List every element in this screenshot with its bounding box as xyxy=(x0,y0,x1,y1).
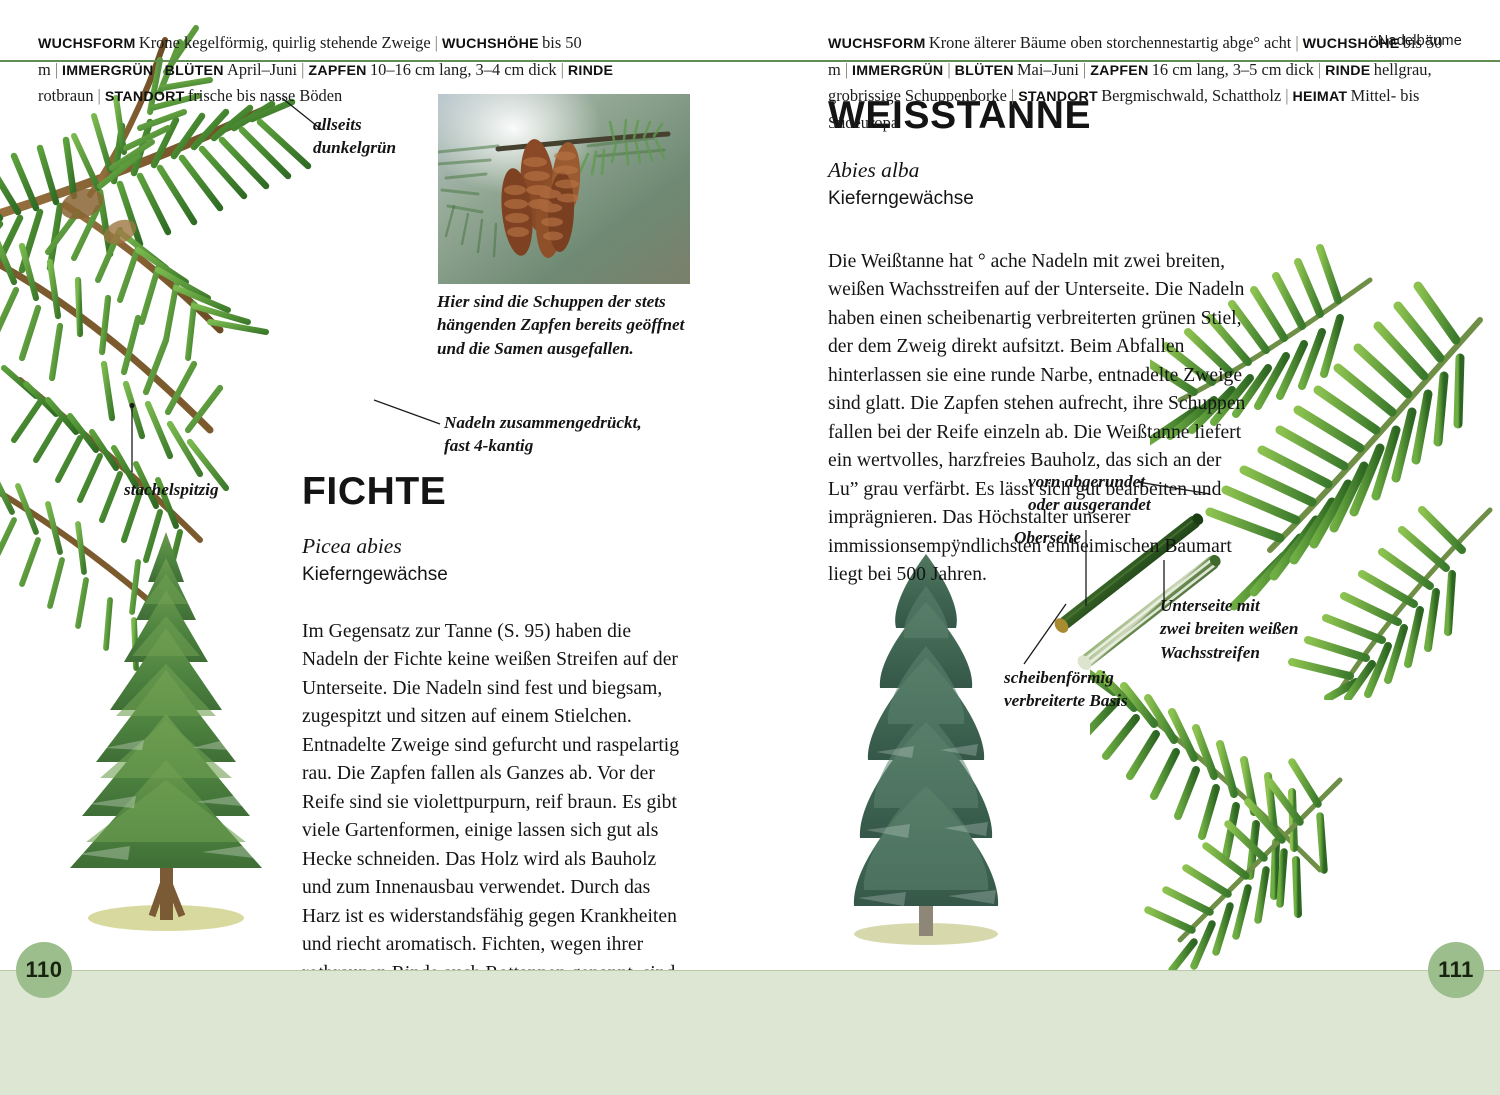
book-spread-page: Nadelbäume allseits dunkelgrün Hier sind… xyxy=(0,0,1500,1095)
fact-separator: | xyxy=(557,60,568,79)
fact-key: HEIMAT xyxy=(1293,89,1348,105)
fact-separator: | xyxy=(1281,86,1292,105)
fact-separator: | xyxy=(943,60,954,79)
leader-unterseite xyxy=(1158,558,1170,602)
fact-value: Krone älterer Bäume oben storchennestart… xyxy=(926,33,1292,52)
fact-value: April–Juni xyxy=(224,60,297,79)
fact-strip-right: WUCHSFORM Krone älterer Bäume oben storc… xyxy=(828,30,1478,136)
leader-stachelspitzig xyxy=(126,402,138,474)
fact-key: ZAPFEN xyxy=(1090,63,1148,79)
callout-scheibenfoermig-basis: scheibenförmig verbreiterte Basis xyxy=(1004,666,1194,713)
spruce-cone-photograph xyxy=(438,94,690,284)
page-number-badge-right: 111 xyxy=(1428,942,1484,998)
fact-key: WUCHSHÖHE xyxy=(1303,36,1400,52)
spruce-tree-illustration xyxy=(44,524,288,944)
species-latin-weisstanne: Abies alba xyxy=(828,157,1256,185)
fact-separator: | xyxy=(431,33,442,52)
fact-value: 10–16 cm lang, 3–4 cm dick xyxy=(367,60,557,79)
fact-separator: | xyxy=(297,60,308,79)
species-title-fichte: FICHTE xyxy=(302,472,680,511)
leader-nadeln xyxy=(372,398,442,428)
footer-rule xyxy=(0,970,1500,971)
fact-strip-band xyxy=(0,970,1500,1095)
callout-allseits-dunkelgruen: allseits dunkelgrün xyxy=(313,113,463,160)
fact-separator: | xyxy=(1007,86,1018,105)
fir-tree-illustration xyxy=(806,546,1050,956)
fact-key: STANDORT xyxy=(105,89,185,105)
fact-key: RINDE xyxy=(568,63,613,79)
species-family-fichte: Kieferngewächse xyxy=(302,562,680,588)
fact-key: BLÜTEN xyxy=(955,63,1014,79)
fact-separator: | xyxy=(841,60,852,79)
page-number-badge-left: 110 xyxy=(16,942,72,998)
leader-scheibenfoermig xyxy=(1022,602,1068,666)
fact-key: WUCHSFORM xyxy=(828,36,926,52)
leader-vorn-abgerundet xyxy=(1136,474,1212,498)
fact-key: WUCHSFORM xyxy=(38,36,136,52)
leader-oberseite xyxy=(1080,528,1092,608)
species-body-fichte: Im Gegensatz zur Tanne (S. 95) haben die… xyxy=(302,618,680,1017)
fact-value: frische bis nasse Böden xyxy=(185,86,343,105)
callout-stachelspitzig: stachelspitzig xyxy=(124,478,304,501)
fact-value: 16 cm lang, 3–5 cm dick xyxy=(1148,60,1313,79)
fact-separator: | xyxy=(1314,60,1325,79)
fact-value: Bergmischwald, Schattholz xyxy=(1098,86,1281,105)
callout-unterseite-wachsstreifen: Unterseite mit zwei breiten weißen Wachs… xyxy=(1160,594,1350,664)
fact-key: IMMERGRÜN xyxy=(62,63,153,79)
fact-key: STANDORT xyxy=(1018,89,1098,105)
species-block-fichte: FICHTE Picea abies Kieferngewächse Im Ge… xyxy=(302,472,680,1017)
species-latin-fichte: Picea abies xyxy=(302,533,680,561)
species-family-weisstanne: Kieferngewächse xyxy=(828,186,1256,212)
fact-value: Mai–Juni xyxy=(1014,60,1079,79)
fact-key: WUCHSHÖHE xyxy=(442,36,539,52)
fact-key: RINDE xyxy=(1325,63,1370,79)
fact-key: BLÜTEN xyxy=(165,63,224,79)
fact-separator: | xyxy=(153,60,164,79)
caption-zapfen-photo: Hier sind die Schuppen der stets hängend… xyxy=(437,290,689,360)
fact-separator: | xyxy=(1291,33,1302,52)
callout-nadeln-zusammengedrueckt: Nadeln zusammengedrückt, fast 4-kantig xyxy=(444,411,684,458)
fact-key: IMMERGRÜN xyxy=(852,63,943,79)
fact-separator: | xyxy=(1079,60,1090,79)
fact-value: Krone kegelförmig, quirlig stehende Zwei… xyxy=(136,33,431,52)
fact-separator: | xyxy=(51,60,62,79)
callout-oberseite: Oberseite xyxy=(1014,526,1134,549)
fact-strip-left: WUCHSFORM Krone kegelförmig, quirlig ste… xyxy=(38,30,688,110)
fact-separator: | xyxy=(94,86,105,105)
fact-key: ZAPFEN xyxy=(308,63,366,79)
